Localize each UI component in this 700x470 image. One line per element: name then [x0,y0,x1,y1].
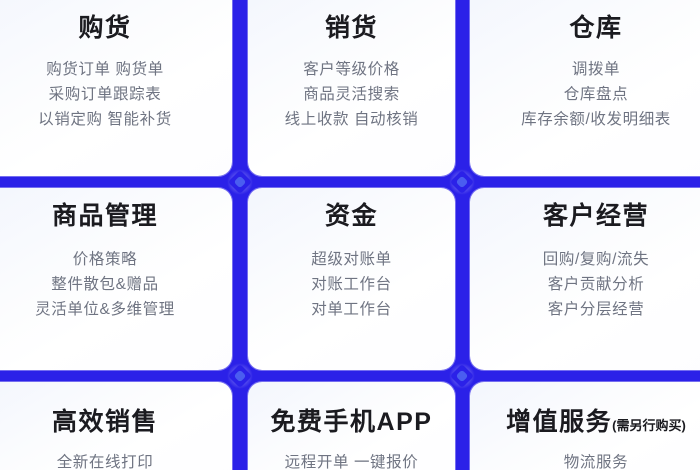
grid-seam-vertical [455,382,470,470]
feature-card-sales[interactable]: 销货 客户等级价格 商品灵活搜索 线上收款 自动核销 [248,0,455,176]
card-feature-line: 调拨单 [521,57,671,82]
card-feature-line: 回购/复购/流失 [543,247,649,272]
card-feature-line: 客户贡献分析 [543,272,649,297]
card-content: 高效销售 全新在线打印 [0,382,232,470]
grid-seam-horizontal [232,176,248,188]
card-feature-line: 客户分层经营 [543,297,649,322]
card-content: 免费手机APP 远程开单 一键报价 [248,382,455,470]
card-feature-line: 整件散包&赠品 [35,272,175,297]
card-title: 仓库 [569,14,622,43]
feature-card-funds[interactable]: 资金 超级对账单 对账工作台 对单工作台 [248,188,455,370]
card-feature-line: 购货订单 购货单 [38,57,172,82]
grid-seam-horizontal [455,176,470,188]
card-content: 销货 客户等级价格 商品灵活搜索 线上收款 自动核销 [248,0,455,176]
card-title: 高效销售 [52,408,158,437]
card-title: 免费手机APP [271,408,433,437]
card-feature-line: 灵活单位&多维管理 [35,297,175,322]
grid-seam-horizontal [232,370,248,382]
grid-seam-horizontal [248,370,455,382]
card-feature-line: 仓库盘点 [521,82,671,107]
card-feature-list: 客户等级价格 商品灵活搜索 线上收款 自动核销 [285,57,419,132]
grid-seam-vertical [232,0,248,176]
card-feature-line: 对账工作台 [311,272,392,297]
card-feature-list: 价格策略 整件散包&赠品 灵活单位&多维管理 [35,247,175,322]
grid-seam-horizontal [470,370,700,382]
card-content: 增值服务(需另行购买) 物流服务 [470,382,700,470]
grid-seam-horizontal [0,176,232,188]
feature-card-grid: 购货 购货订单 购货单 采购订单跟踪表 以销定购 智能补货 销货 客户等级价格 … [0,0,700,470]
grid-seam-vertical [455,188,470,370]
card-feature-line: 物流服务 [564,450,628,470]
grid-seam-vertical [232,188,248,370]
card-feature-list: 调拨单 仓库盘点 库存余额/收发明细表 [521,57,671,132]
card-feature-line: 远程开单 一键报价 [285,450,419,470]
card-feature-line: 超级对账单 [311,247,392,272]
card-content: 购货 购货订单 购货单 采购订单跟踪表 以销定购 智能补货 [0,0,232,176]
card-feature-list: 购货订单 购货单 采购订单跟踪表 以销定购 智能补货 [38,57,172,132]
card-content: 商品管理 价格策略 整件散包&赠品 灵活单位&多维管理 [0,188,232,370]
card-title: 销货 [325,14,378,43]
card-title: 商品管理 [52,202,158,231]
grid-seam-horizontal [470,176,700,188]
card-content: 客户经营 回购/复购/流失 客户贡献分析 客户分层经营 [470,188,700,370]
feature-card-warehouse[interactable]: 仓库 调拨单 仓库盘点 库存余额/收发明细表 [470,0,700,176]
card-feature-line: 价格策略 [35,247,175,272]
card-feature-line: 全新在线打印 [57,450,154,470]
card-title: 购货 [78,14,131,43]
card-feature-line: 对单工作台 [311,297,392,322]
card-feature-list: 回购/复购/流失 客户贡献分析 客户分层经营 [543,247,649,322]
card-feature-list: 全新在线打印 [57,450,154,470]
feature-card-efficient-sales[interactable]: 高效销售 全新在线打印 [0,382,232,470]
card-feature-list: 超级对账单 对账工作台 对单工作台 [311,247,392,322]
grid-seam-vertical [232,382,248,470]
card-title: 客户经营 [543,202,649,231]
grid-seam-horizontal [248,176,455,188]
card-feature-list: 物流服务 [564,450,628,470]
card-feature-line: 以销定购 智能补货 [38,107,172,132]
feature-card-purchase[interactable]: 购货 购货订单 购货单 采购订单跟踪表 以销定购 智能补货 [0,0,232,176]
grid-seam-horizontal [0,370,232,382]
feature-card-value-added-services[interactable]: 增值服务(需另行购买) 物流服务 [470,382,700,470]
grid-seam-horizontal [455,370,470,382]
card-feature-list: 远程开单 一键报价 [285,450,419,470]
card-title: 增值服务(需另行购买) [506,408,686,437]
feature-card-free-mobile-app[interactable]: 免费手机APP 远程开单 一键报价 [248,382,455,470]
card-feature-line: 线上收款 自动核销 [285,107,419,132]
feature-card-customer-operations[interactable]: 客户经营 回购/复购/流失 客户贡献分析 客户分层经营 [470,188,700,370]
grid-seam-vertical [455,0,470,176]
card-content: 资金 超级对账单 对账工作台 对单工作台 [248,188,455,370]
card-feature-line: 库存余额/收发明细表 [521,107,671,132]
card-title: 资金 [325,202,378,231]
card-feature-line: 采购订单跟踪表 [38,82,172,107]
card-feature-line: 客户等级价格 [285,57,419,82]
feature-card-product-management[interactable]: 商品管理 价格策略 整件散包&赠品 灵活单位&多维管理 [0,188,232,370]
card-content: 仓库 调拨单 仓库盘点 库存余额/收发明细表 [470,0,700,176]
card-feature-line: 商品灵活搜索 [285,82,419,107]
